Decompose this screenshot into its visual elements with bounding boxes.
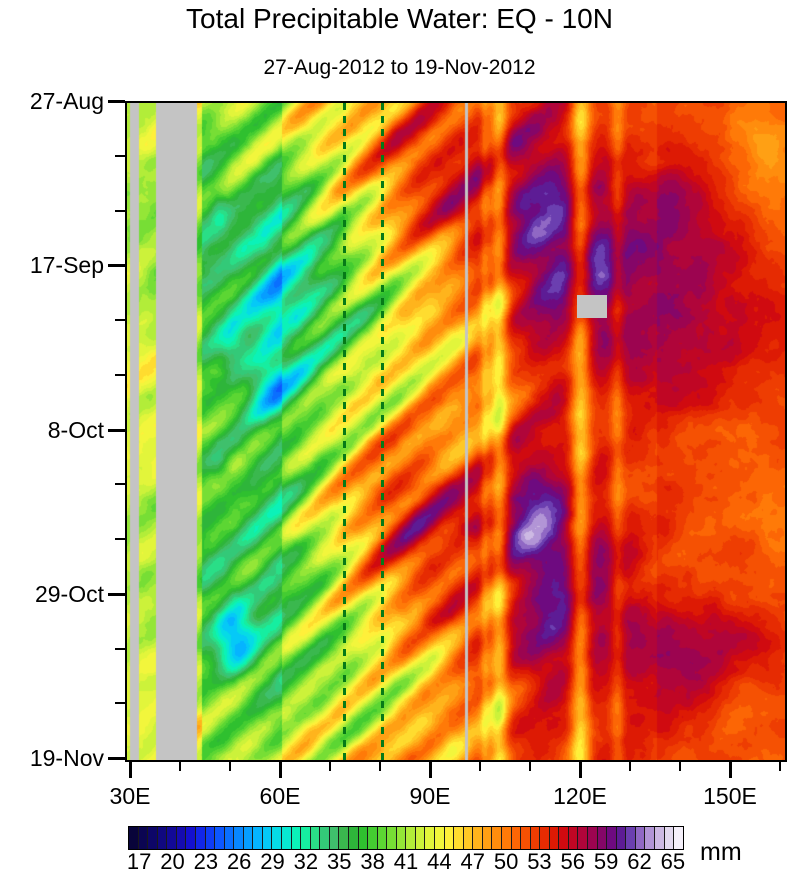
colorbar-cell xyxy=(521,827,531,849)
x-tick-minor xyxy=(229,761,231,771)
colorbar-cell xyxy=(512,827,522,849)
y-tick-minor xyxy=(115,155,125,157)
colorbar-cell xyxy=(186,827,196,849)
y-tick-major xyxy=(108,100,125,103)
page-title: Total Precipitable Water: EQ - 10N xyxy=(0,2,799,36)
x-tick-minor xyxy=(179,761,181,771)
colorbar-cell xyxy=(282,827,292,849)
y-tick-label: 27-Aug xyxy=(0,90,104,113)
colorbar-cell xyxy=(196,827,206,849)
y-tick-minor xyxy=(115,538,125,540)
y-tick-minor xyxy=(115,648,125,650)
colorbar-cell xyxy=(483,827,493,849)
x-tick-minor xyxy=(329,761,331,771)
x-tick-major xyxy=(579,761,582,778)
colorbar-cell xyxy=(674,827,683,849)
colorbar-cell xyxy=(387,827,397,849)
x-tick-label: 120E xyxy=(535,785,625,808)
colorbar-swatches xyxy=(128,826,684,850)
colorbar-cell xyxy=(158,827,168,849)
y-tick-major xyxy=(108,757,125,760)
colorbar-cell xyxy=(263,827,273,849)
colorbar-cell xyxy=(301,827,311,849)
y-tick-minor xyxy=(115,374,125,376)
colorbar-cell xyxy=(540,827,550,849)
colorbar-cell xyxy=(559,827,569,849)
colorbar-cell xyxy=(177,827,187,849)
colorbar-cell xyxy=(665,827,675,849)
colorbar-cell xyxy=(598,827,608,849)
colorbar-cell xyxy=(349,827,359,849)
colorbar-cell xyxy=(368,827,378,849)
colorbar[interactable] xyxy=(128,826,684,850)
colorbar-cell xyxy=(578,827,588,849)
x-tick-major xyxy=(729,761,732,778)
colorbar-cell xyxy=(378,827,388,849)
colorbar-cell xyxy=(206,827,216,849)
missing-data-patch xyxy=(577,295,607,318)
colorbar-cell xyxy=(617,827,627,849)
y-tick-major xyxy=(108,264,125,267)
x-tick-major xyxy=(279,761,282,778)
reference-line-2 xyxy=(381,103,384,760)
colorbar-cell xyxy=(569,827,579,849)
x-tick-minor xyxy=(479,761,481,771)
x-tick-minor xyxy=(779,761,781,771)
colorbar-cell xyxy=(416,827,426,849)
colorbar-cell xyxy=(626,827,636,849)
colorbar-cell xyxy=(492,827,502,849)
colorbar-unit-label: mm xyxy=(700,840,742,865)
x-tick-label: 30E xyxy=(85,785,175,808)
colorbar-cell xyxy=(550,827,560,849)
colorbar-cell xyxy=(244,827,254,849)
colorbar-cell xyxy=(359,827,369,849)
colorbar-cell xyxy=(435,827,445,849)
colorbar-cell xyxy=(225,827,235,849)
colorbar-cell xyxy=(397,827,407,849)
x-tick-minor xyxy=(679,761,681,771)
y-tick-label: 19-Nov xyxy=(0,747,104,770)
plot-area[interactable] xyxy=(125,101,787,762)
colorbar-cell xyxy=(292,827,302,849)
y-tick-major xyxy=(108,593,125,596)
y-tick-minor xyxy=(115,702,125,704)
x-tick-label: 60E xyxy=(235,785,325,808)
colorbar-cell xyxy=(167,827,177,849)
y-tick-label: 29-Oct xyxy=(0,583,104,606)
colorbar-cell xyxy=(502,827,512,849)
precipitable-water-heatmap xyxy=(127,103,785,760)
x-tick-label: 90E xyxy=(385,785,475,808)
colorbar-cell xyxy=(531,827,541,849)
colorbar-cell xyxy=(406,827,416,849)
colorbar-cell xyxy=(339,827,349,849)
colorbar-cell xyxy=(425,827,435,849)
x-tick-major xyxy=(429,761,432,778)
y-tick-minor xyxy=(115,319,125,321)
colorbar-cell xyxy=(311,827,321,849)
y-tick-label: 17-Sep xyxy=(0,254,104,277)
colorbar-cell xyxy=(636,827,646,849)
colorbar-cell xyxy=(129,827,139,849)
colorbar-cell xyxy=(607,827,617,849)
colorbar-cell xyxy=(139,827,149,849)
colorbar-cell xyxy=(588,827,598,849)
reference-line-1 xyxy=(343,103,346,760)
chart-subtitle: 27-Aug-2012 to 19-Nov-2012 xyxy=(0,55,799,81)
x-tick-minor xyxy=(629,761,631,771)
hovmoller-figure: Total Precipitable Water: EQ - 10N 27-Au… xyxy=(0,0,799,872)
colorbar-cell xyxy=(645,827,655,849)
y-tick-minor xyxy=(115,483,125,485)
colorbar-cell xyxy=(330,827,340,849)
colorbar-cell xyxy=(272,827,282,849)
x-tick-minor xyxy=(379,761,381,771)
colorbar-cell xyxy=(445,827,455,849)
y-tick-major xyxy=(108,429,125,432)
colorbar-tick-label: 65 xyxy=(653,851,693,873)
colorbar-cell xyxy=(454,827,464,849)
y-tick-minor xyxy=(115,210,125,212)
y-tick-label: 8-Oct xyxy=(0,419,104,442)
x-tick-major xyxy=(129,761,132,778)
colorbar-cell xyxy=(320,827,330,849)
colorbar-cell xyxy=(655,827,665,849)
x-tick-minor xyxy=(529,761,531,771)
colorbar-cell xyxy=(473,827,483,849)
colorbar-cell xyxy=(234,827,244,849)
colorbar-cell xyxy=(215,827,225,849)
x-tick-label: 150E xyxy=(685,785,775,808)
colorbar-cell xyxy=(253,827,263,849)
colorbar-cell xyxy=(464,827,474,849)
colorbar-cell xyxy=(148,827,158,849)
